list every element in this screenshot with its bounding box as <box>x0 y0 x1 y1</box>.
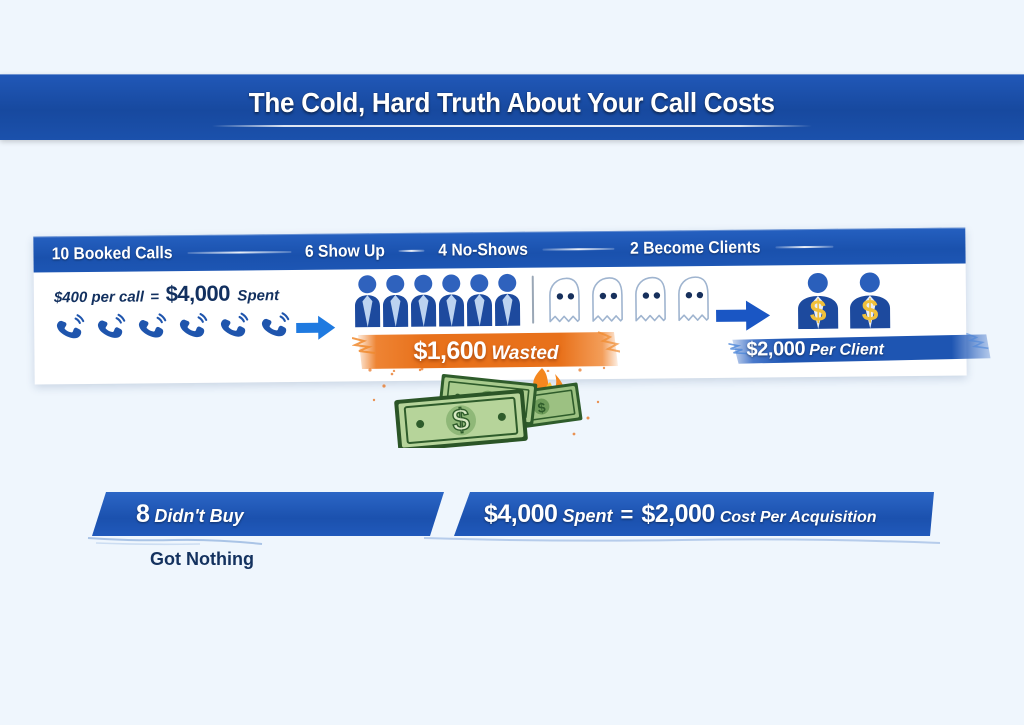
infographic-canvas: The Cold, Hard Truth About Your Call Cos… <box>0 0 1024 725</box>
per-client-label: $2,000Per Client <box>746 337 884 361</box>
cpa-label: Cost Per Acquisition <box>715 509 877 526</box>
stage-label-booked-calls: 10 Booked Calls <box>49 243 176 264</box>
stage-label-no-shows: 4 No-Shows <box>436 240 531 261</box>
cpa-spent-amount: $4,000 <box>484 500 557 528</box>
svg-text:$: $ <box>862 294 879 327</box>
person-icon <box>380 273 412 327</box>
person-icon <box>408 273 440 327</box>
phone-call-icon <box>50 310 90 350</box>
left-bar-brush-tail <box>86 534 266 548</box>
right-bar-brush-tail <box>422 535 942 545</box>
person-icon <box>492 272 524 326</box>
cost-rate-text: $400 per call <box>54 288 144 306</box>
didnt-buy-label: Didn't Buy <box>149 506 243 526</box>
cpa-bar: $4,000Spent=$2,000Cost Per Acquisition <box>454 492 934 536</box>
cost-total-amount: $4,000 <box>165 281 230 307</box>
phone-call-icon <box>173 309 213 349</box>
svg-text:$: $ <box>810 295 827 328</box>
stage-connector-4 <box>776 246 834 249</box>
person-icon <box>436 272 468 326</box>
phone-call-icon <box>132 309 172 349</box>
per-client-suffix: Per Client <box>805 341 884 359</box>
arrow-right-icon <box>294 313 338 343</box>
stage-connector-2 <box>399 250 425 252</box>
person-icon <box>352 273 384 327</box>
phone-call-icon <box>214 308 254 348</box>
cpa-spent-label: Spent <box>557 506 612 526</box>
cost-equals-sign: = <box>148 288 161 305</box>
funnel-stage-header: 10 Booked Calls 6 Show Up 4 No-Shows 2 B… <box>33 228 965 273</box>
didnt-buy-count: 8 <box>136 500 149 528</box>
page-title: The Cold, Hard Truth About Your Call Cos… <box>249 87 775 119</box>
stage-label-become-clients: 2 Become Clients <box>627 237 763 258</box>
cost-per-call-line: $400 per call = $4,000 Spent <box>54 280 279 308</box>
ghost-icon <box>673 274 718 324</box>
burning-money-icon: $ $ <box>360 356 612 448</box>
stage-label-show-up: 6 Show Up <box>302 241 388 262</box>
stage-connector-1 <box>188 251 292 254</box>
arrow-right-icon <box>714 297 772 334</box>
stage-connector-3 <box>542 248 614 251</box>
per-client-amount: $2,000 <box>746 338 805 361</box>
title-banner: The Cold, Hard Truth About Your Call Cos… <box>0 74 1024 140</box>
got-nothing-note: Got Nothing <box>150 549 254 570</box>
attendance-icon-group <box>352 270 717 327</box>
client-dollar-icon: $ <box>790 271 847 330</box>
title-underline <box>212 125 812 127</box>
cpa-text: $4,000Spent=$2,000Cost Per Acquisition <box>484 500 877 529</box>
client-dollar-icon: $ <box>842 270 899 329</box>
group-divider <box>532 276 534 324</box>
ghost-icon <box>544 275 589 325</box>
cost-spent-label: Spent <box>234 287 279 304</box>
cpa-equals-sign: = <box>612 502 641 527</box>
ghost-icon <box>587 275 632 325</box>
wasted-callout: $1,600Wasted $ <box>352 330 620 448</box>
booked-calls-icon-row <box>50 308 338 351</box>
phone-call-icon <box>255 308 295 348</box>
phone-call-icon <box>91 310 131 350</box>
svg-text:$: $ <box>451 402 471 438</box>
clients-icon-group: $ $ <box>790 270 895 329</box>
person-icon <box>464 272 496 326</box>
didnt-buy-text: 8Didn't Buy <box>136 500 244 529</box>
didnt-buy-bar: 8Didn't Buy <box>92 492 444 536</box>
summary-bar-row: 8Didn't Buy $4,000Spent=$2,000Cost Per A… <box>92 492 934 538</box>
ghost-icon <box>630 274 675 324</box>
cpa-amount: $2,000 <box>641 500 714 528</box>
